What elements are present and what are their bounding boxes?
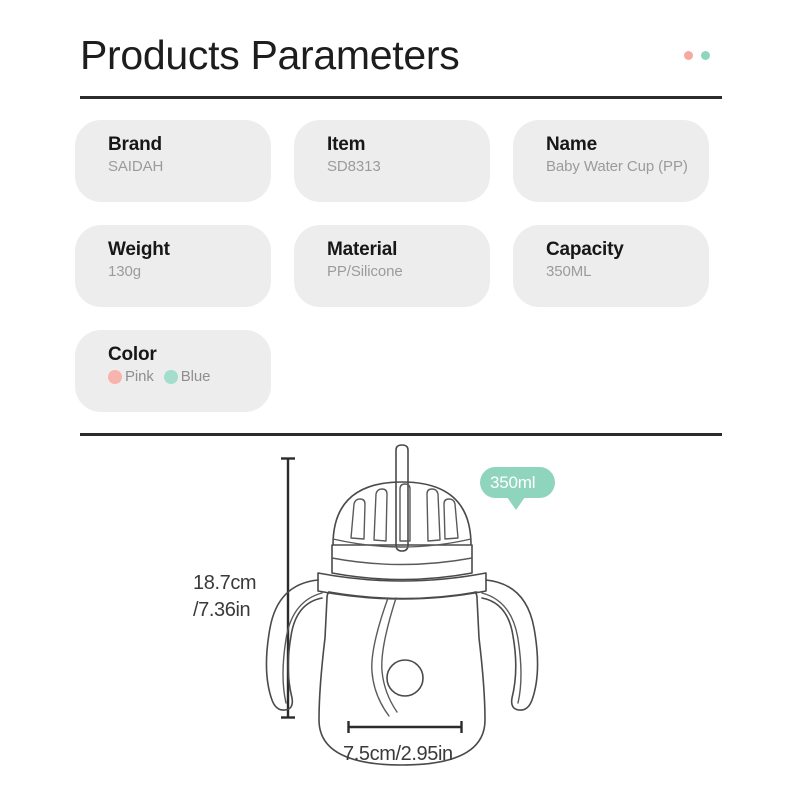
capacity-badge: 350ml (480, 467, 555, 510)
color-option-label: Pink (125, 368, 154, 385)
spec-value: 130g (108, 262, 258, 281)
spec-card-capacity: Capacity 350ML (513, 225, 709, 307)
green-dot-icon (701, 51, 710, 60)
spec-value: SD8313 (327, 157, 477, 176)
title-dot-group (684, 51, 722, 60)
spec-value: Baby Water Cup (PP) (546, 157, 696, 176)
spec-card-grid: Brand SAIDAH Item SD8313 Name Baby Water… (75, 120, 725, 412)
spec-card-name: Name Baby Water Cup (PP) (513, 120, 709, 202)
page-header: Products Parameters (80, 24, 722, 86)
product-dimension-diagram: 18.7cm /7.36in (0, 440, 800, 780)
spec-label: Material (327, 238, 490, 262)
capacity-badge-label: 350ml (490, 473, 535, 492)
pink-dot-icon (684, 51, 693, 60)
color-option-row: Pink Blue (108, 368, 271, 385)
spec-card-item: Item SD8313 (294, 120, 490, 202)
spec-label: Brand (108, 133, 271, 157)
pink-swatch-icon (108, 370, 122, 384)
spec-label: Color (108, 343, 271, 367)
width-dimension-line (348, 721, 462, 733)
spec-card-brand: Brand SAIDAH (75, 120, 271, 202)
spec-label: Item (327, 133, 490, 157)
height-label-line1: 18.7cm (193, 572, 256, 594)
width-label: 7.5cm/2.95in (343, 743, 453, 765)
header-divider (80, 96, 722, 99)
color-option-blue[interactable]: Blue (164, 368, 211, 385)
color-option-pink[interactable]: Pink (108, 368, 154, 385)
page-title: Products Parameters (80, 35, 459, 76)
product-parameters-page: Products Parameters Brand SAIDAH Item SD… (0, 0, 800, 800)
spec-card-material: Material PP/Silicone (294, 225, 490, 307)
spec-label: Weight (108, 238, 271, 262)
blue-swatch-icon (164, 370, 178, 384)
spec-label: Capacity (546, 238, 709, 262)
spec-label: Name (546, 133, 709, 157)
spec-card-color: Color Pink Blue (75, 330, 271, 412)
capacity-badge-tail (507, 497, 525, 510)
spec-value: SAIDAH (108, 157, 258, 176)
height-label-line2: /7.36in (193, 599, 250, 621)
spec-value: PP/Silicone (327, 262, 477, 281)
section-divider (80, 433, 722, 436)
spec-value: 350ML (546, 262, 696, 281)
color-option-label: Blue (181, 368, 211, 385)
spec-card-weight: Weight 130g (75, 225, 271, 307)
